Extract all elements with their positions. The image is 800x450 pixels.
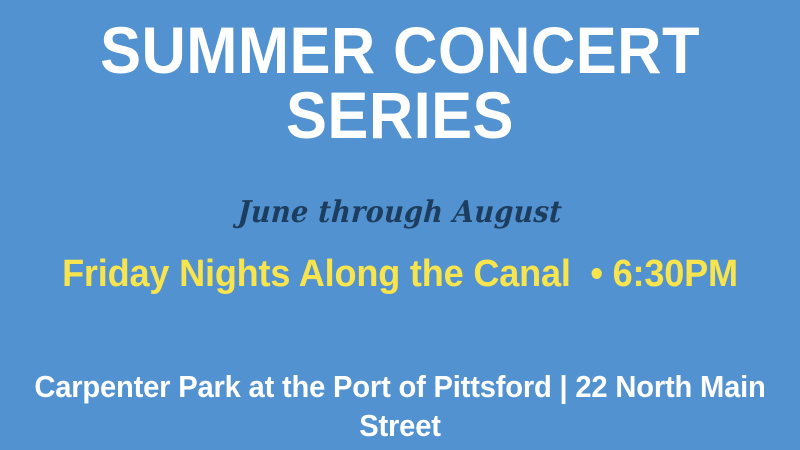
flyer-title: SUMMER CONCERT SERIES xyxy=(28,18,772,147)
flyer-event-schedule: Friday Nights Along the Canal • 6:30PM xyxy=(47,252,754,297)
flyer-venue-address: Carpenter Park at the Port of Pittsford … xyxy=(3,368,796,446)
summer-concert-flyer: SUMMER CONCERT SERIES June through Augus… xyxy=(0,0,800,450)
flyer-subtitle-dates: June through August xyxy=(39,198,761,228)
